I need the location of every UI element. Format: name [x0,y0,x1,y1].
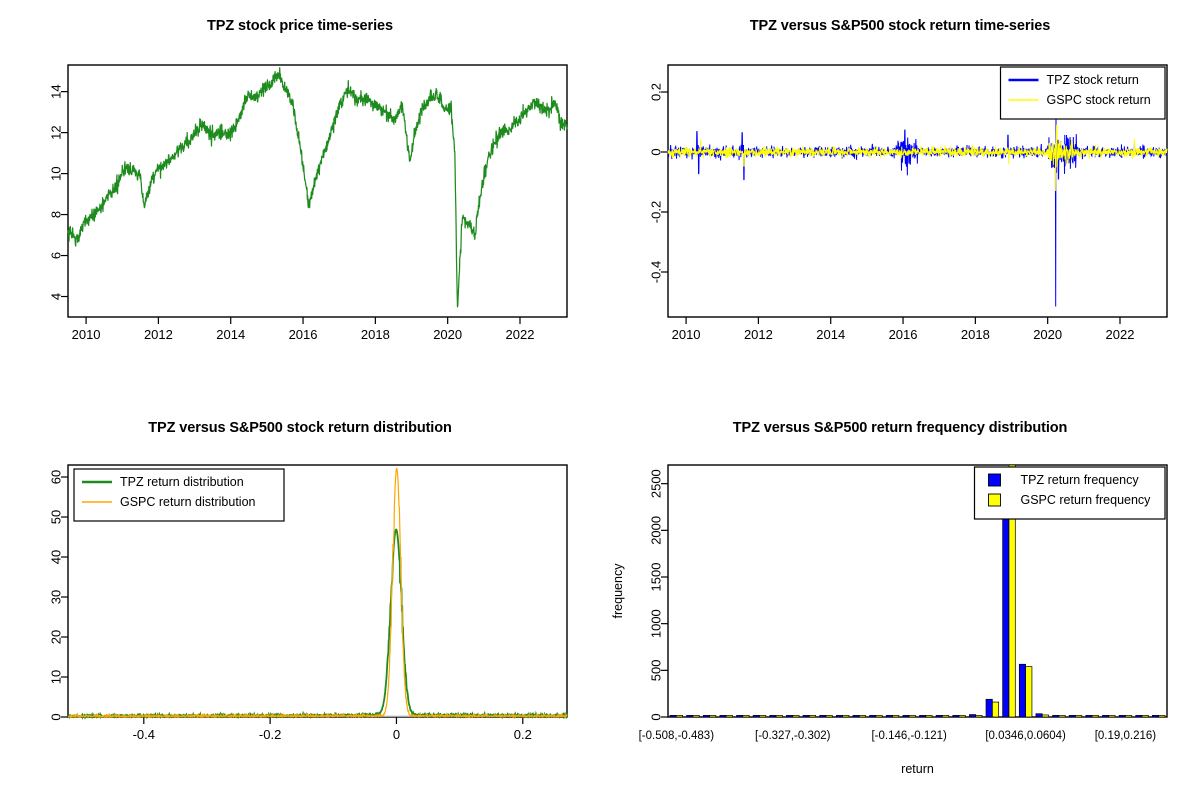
bar-gspc [1076,715,1082,717]
series-tpz-price [68,68,567,307]
x-tick-label: -0.4 [133,727,155,742]
bar-tpz [886,715,892,717]
y-tick-label: 6 [49,252,64,259]
bar-tpz [1053,715,1059,717]
legend-label: GSPC return distribution [120,495,256,509]
bar-tpz [803,715,809,717]
bar-gspc [743,715,749,717]
y-tick-label: 60 [49,470,64,484]
bar-tpz [1019,664,1025,717]
bar-tpz [1102,715,1108,717]
bar-tpz [936,715,942,717]
y-tick-label: -0.4 [649,261,664,283]
bar-tpz [1069,715,1075,717]
bar-gspc [876,715,882,717]
x-tick-label: 2010 [72,327,101,342]
panel-tpz-gspc-return-frequency: TPZ versus S&P500 return frequency distr… [600,400,1200,800]
bar-tpz [986,699,992,717]
bar-tpz [687,715,693,717]
bar-gspc [1125,715,1131,717]
x-tick-label: 0 [393,727,400,742]
panel-tpz-gspc-return-distribution: TPZ versus S&P500 stock return distribut… [0,400,600,800]
legend-label: TPZ return distribution [120,475,244,489]
bar-gspc [1109,715,1115,717]
series-tpz-density [68,530,567,717]
x-tick-label: 2022 [506,327,535,342]
bar-gspc [926,715,932,717]
bar-tpz [870,715,876,717]
x-tick-label: -0.2 [259,727,281,742]
legend: TPZ stock returnGSPC stock return [1001,67,1166,119]
x-axis-title: return [901,762,934,776]
bar-gspc [976,715,982,717]
x-tick-label: 2018 [361,327,390,342]
x-tick-label: 0.2 [514,727,532,742]
x-tick-label: 2016 [889,327,918,342]
bar-gspc [1042,715,1048,717]
x-tick-label: 2014 [816,327,845,342]
plot-box [68,65,567,317]
y-tick-label: 10 [49,670,64,684]
y-tick-label: 2000 [649,516,664,545]
legend-swatch [989,494,1001,506]
x-tick-label: 2020 [433,327,462,342]
legend-label: TPZ stock return [1047,73,1139,87]
x-tick-label: 2018 [961,327,990,342]
bar-gspc [909,715,915,717]
bar-tpz [1136,715,1142,717]
y-tick-label: -0.2 [649,201,664,223]
bar-tpz [920,715,926,717]
bar-gspc [1159,715,1165,717]
bar-tpz [670,715,676,717]
x-tick-label: 2010 [672,327,701,342]
bar-tpz [1152,715,1158,717]
bar-gspc [793,715,799,717]
y-tick-label: 0 [49,713,64,720]
y-tick-label: 50 [49,510,64,524]
x-tick-label: 2016 [289,327,318,342]
bar-tpz [969,715,975,717]
bar-gspc [726,715,732,717]
bar-tpz [1036,714,1042,717]
figure-canvas: TPZ stock price time-series 201020122014… [0,0,1200,800]
bar-gspc [859,715,865,717]
bar-gspc [676,715,682,717]
legend: TPZ return distributionGSPC return distr… [74,469,284,521]
y-tick-label: 0.2 [649,83,664,101]
bar-tpz [1119,715,1125,717]
bar-tpz [853,715,859,717]
x-tick-label: [-0.146,-0.121) [871,730,947,742]
bar-tpz [903,715,909,717]
y-tick-label: 14 [49,84,64,98]
bar-tpz [770,715,776,717]
y-tick-label: 12 [49,125,64,139]
series-tpz-return [668,112,1167,307]
bar-gspc [1059,715,1065,717]
panel-tpz-gspc-return-timeseries: TPZ versus S&P500 stock return time-seri… [600,0,1200,400]
x-tick-label: 2022 [1106,327,1135,342]
legend-swatch [989,474,1001,486]
y-axis-title: frequency [611,563,625,619]
y-tick-label: 10 [49,166,64,180]
bar-tpz [720,715,726,717]
bar-tpz [836,715,842,717]
bar-gspc [826,715,832,717]
y-tick-label: 8 [49,211,64,218]
bar-tpz [753,715,759,717]
x-tick-label: [-0.327,-0.302) [755,730,831,742]
bar-gspc [959,715,965,717]
y-tick-label: 1000 [649,609,664,638]
x-tick-label: 2012 [744,327,773,342]
bar-tpz [703,715,709,717]
bar-tpz [1086,715,1092,717]
legend: TPZ return frequencyGSPC return frequenc… [975,467,1166,519]
y-tick-label: 20 [49,630,64,644]
y-tick-label: 2500 [649,469,664,498]
bar-tpz [786,715,792,717]
x-tick-label: [0.19,0.216) [1095,730,1157,742]
legend-label: TPZ return frequency [1021,473,1140,487]
x-tick-label: 2020 [1033,327,1062,342]
plot-return-timeseries: 2010201220142016201820202022-0.4-0.200.2… [600,0,1200,400]
bar-tpz [737,715,743,717]
bar-gspc [710,715,716,717]
plot-tpz-price-timeseries: 2010201220142016201820202022468101214 [0,0,600,400]
bar-tpz [820,715,826,717]
bar-gspc [809,715,815,717]
legend-label: GSPC stock return [1047,93,1151,107]
y-tick-label: 4 [49,293,64,300]
y-tick-label: 0 [649,713,664,720]
y-tick-label: 0 [649,148,664,155]
bar-gspc [1142,715,1148,717]
panel-tpz-price-timeseries: TPZ stock price time-series 201020122014… [0,0,600,400]
bar-gspc [893,715,899,717]
bar-gspc [1026,667,1032,717]
x-tick-label: 2012 [144,327,173,342]
x-tick-label: 2014 [216,327,245,342]
legend-label: GSPC return frequency [1021,493,1152,507]
y-tick-label: 30 [49,590,64,604]
bar-gspc [1092,715,1098,717]
bar-tpz [953,715,959,717]
bar-gspc [843,715,849,717]
y-tick-label: 1500 [649,563,664,592]
x-tick-label: [0.0346,0.0604) [985,730,1066,742]
x-tick-label: [-0.508,-0.483) [639,730,715,742]
bar-gspc [942,715,948,717]
y-tick-label: 40 [49,550,64,564]
bar-gspc [992,702,998,717]
bar-gspc [693,715,699,717]
bar-gspc [776,715,782,717]
plot-return-distribution: -0.4-0.200.20102030405060TPZ return dist… [0,400,600,800]
y-tick-label: 500 [649,659,664,681]
plot-return-frequency: 05001000150020002500[-0.508,-0.483)[-0.3… [600,400,1200,800]
bar-gspc [759,715,765,717]
